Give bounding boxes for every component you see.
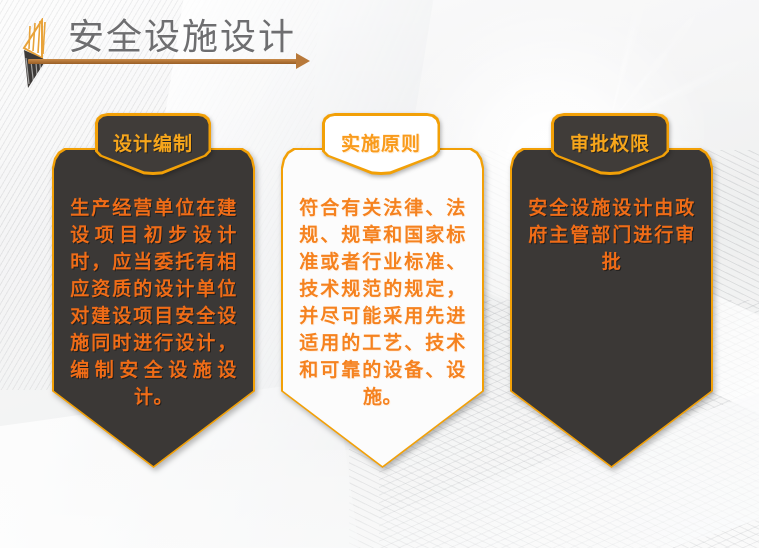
- card-3-tab-label: 审批权限: [570, 129, 650, 156]
- fan-arrow-icon: [12, 18, 74, 90]
- card-2[interactable]: 符合有关法律、法规、规章和国家标准或者行业标准、技术规范的规定，并尽可能采用先进…: [281, 148, 484, 468]
- slide-header: 安全设施设计: [0, 0, 759, 95]
- card-3-tab-frame: 审批权限: [551, 113, 669, 175]
- card-3-tab-fill: 审批权限: [554, 116, 667, 173]
- card-1-tab-label: 设计编制: [113, 129, 193, 156]
- card-2-tab-label: 实施原则: [341, 129, 421, 156]
- card-2-tab-frame: 实施原则: [322, 113, 440, 175]
- title-underline-arrow: [28, 59, 300, 64]
- page-title: 安全设施设计: [68, 8, 296, 60]
- card-1-tab-fill: 设计编制: [98, 116, 209, 173]
- card-3-text: 安全设施设计由政府主管部门进行审批: [528, 196, 694, 277]
- card-1-text: 生产经营单位在建设项目初步设计时，应当委托有相应资质的设计单位对建设项目安全设施…: [70, 196, 236, 412]
- card-2-text: 符合有关法律、法规、规章和国家标准或者行业标准、技术规范的规定，并尽可能采用先进…: [299, 196, 465, 412]
- card-2-tab-fill: 实施原则: [325, 116, 438, 173]
- slide-canvas: 安全设施设计 生产经营单位在建设项目初步设计时，应当委托有相应资质的设计单位对建…: [0, 0, 759, 548]
- card-2-tab[interactable]: 实施原则: [322, 113, 440, 175]
- card-1[interactable]: 生产经营单位在建设项目初步设计时，应当委托有相应资质的设计单位对建设项目安全设施…: [52, 148, 255, 468]
- card-1-tab-frame: 设计编制: [95, 113, 211, 175]
- card-3[interactable]: 安全设施设计由政府主管部门进行审批: [510, 148, 713, 468]
- card-3-tab[interactable]: 审批权限: [551, 113, 669, 175]
- title-arrow-head-icon: [296, 53, 310, 69]
- card-1-tab[interactable]: 设计编制: [95, 113, 211, 175]
